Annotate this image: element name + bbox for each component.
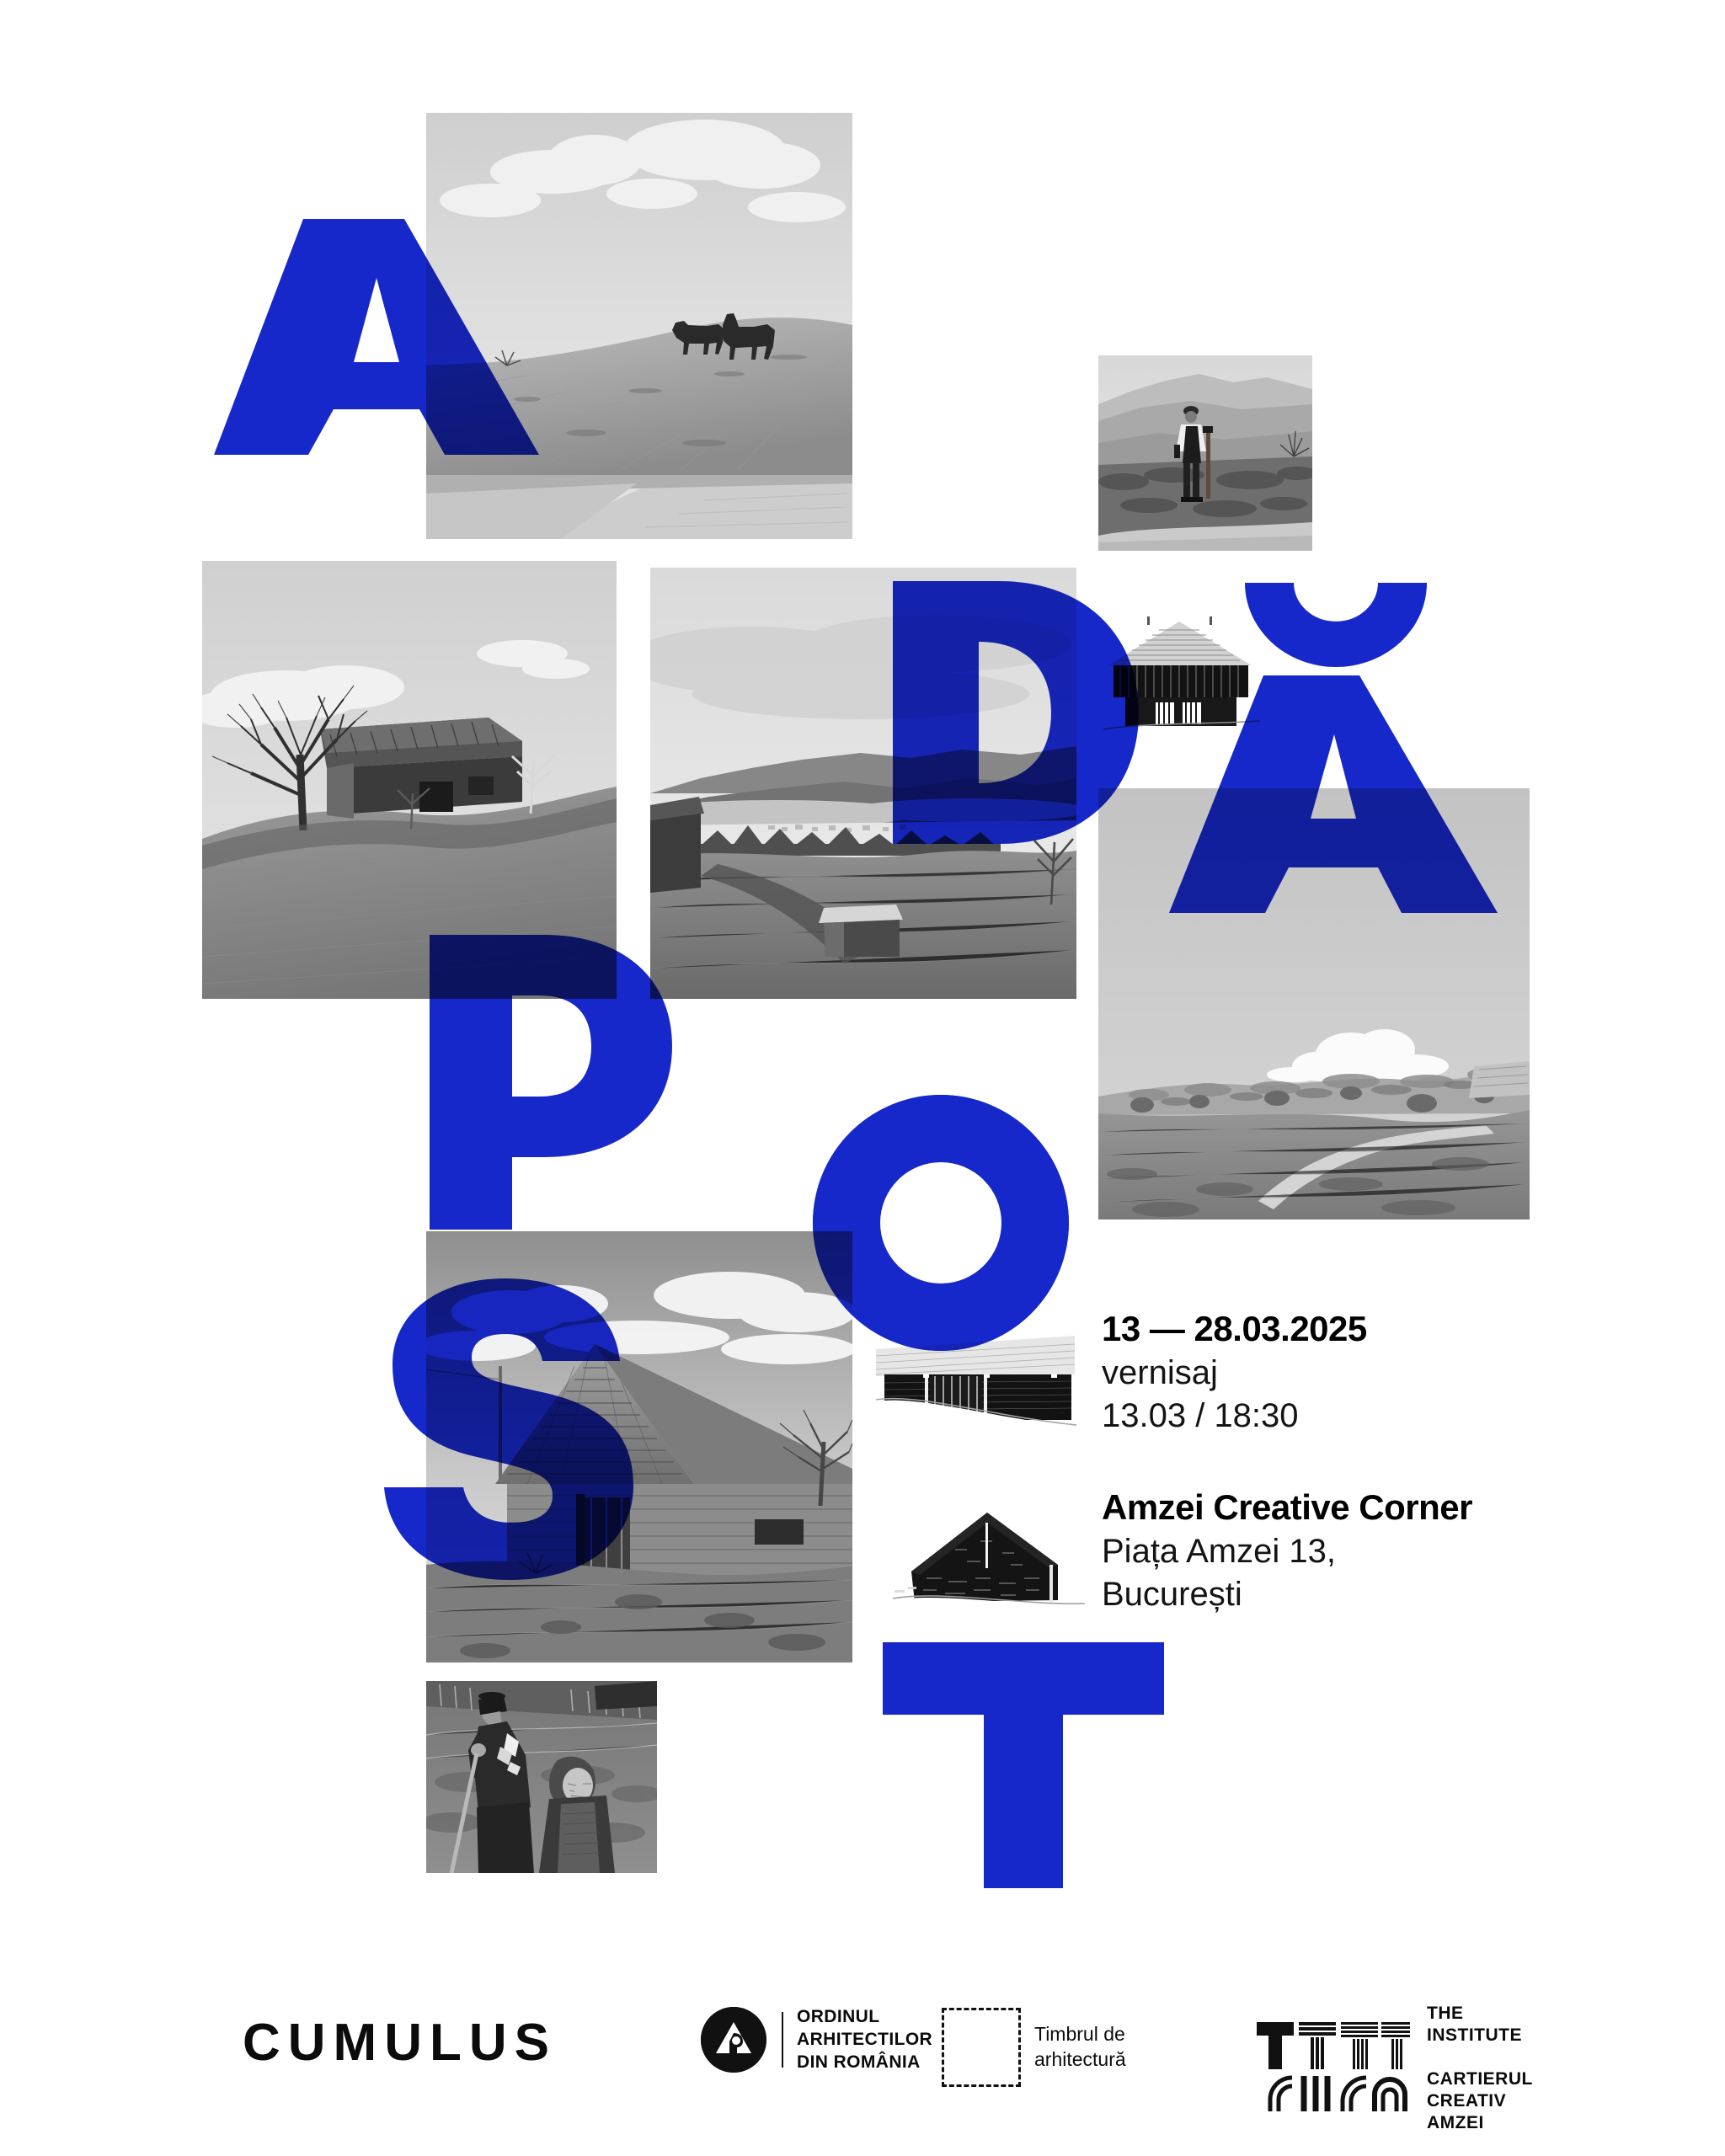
- institute-line-1: THE: [1427, 2003, 1533, 2025]
- shingle-house-image: [426, 1231, 852, 1662]
- oar-line-1: ORDINUL: [797, 2006, 932, 2029]
- timbru-line-1: Timbrul de: [1034, 2022, 1126, 2047]
- event-opening-label: vernisaj: [1102, 1352, 1540, 1395]
- venue-address-line-2: București: [1102, 1573, 1573, 1616]
- venue-info-block: Amzei Creative Corner Piața Amzei 13, Bu…: [1102, 1486, 1573, 1617]
- logo-ordinul-arhitectilor: ORDINUL ARHITECTILOR DIN ROMÂNIA: [701, 2006, 932, 2074]
- oar-divider: [782, 2012, 783, 2068]
- logo-timbrul-de-arhitectura: Timbrul de arhitectură: [942, 2008, 1126, 2087]
- photo-misty-valley: [650, 568, 1076, 999]
- oar-wordmark: ORDINUL ARHITECTILOR DIN ROMÂNIA: [797, 2006, 932, 2074]
- horses-hill-image: [426, 113, 852, 539]
- cumulus-wordmark: CUMULUS: [243, 2013, 557, 2073]
- photo-shingle-house: [426, 1231, 852, 1662]
- timbru-line-2: arhitectură: [1034, 2047, 1126, 2073]
- photo-man-with-tool: [1098, 355, 1312, 551]
- photo-stilt-granary: [1095, 611, 1306, 763]
- institute-line-3: CARTIERUL: [1427, 2068, 1533, 2090]
- field-clouds-image: [1098, 788, 1530, 1219]
- oar-circle-a-icon: [701, 2007, 766, 2073]
- event-info-block: 13 — 28.03.2025 vernisaj 13.03 / 18:30: [1102, 1307, 1540, 1438]
- logo-cumulus: CUMULUS: [243, 2013, 557, 2073]
- institute-line-4: CREATIV: [1427, 2090, 1533, 2112]
- logo-the-institute: THE INSTITUTE CARTIERUL CREATIV AMZEI: [1255, 2003, 1533, 2134]
- footer-logo-bar: CUMULUS ORDINUL ARHITECTILOR DIN ROMÂNIA: [0, 1988, 1725, 2156]
- oar-line-3: DIN ROMÂNIA: [797, 2052, 932, 2074]
- man-with-tool-image: [1098, 355, 1312, 551]
- oar-line-2: ARHITECTILOR: [797, 2029, 932, 2052]
- dashed-square-icon: [942, 2008, 1021, 2087]
- institute-line-2: INSTITUTE: [1427, 2025, 1533, 2047]
- photo-barn-with-trees: [202, 561, 617, 999]
- event-dates: 13 — 28.03.2025: [1102, 1307, 1540, 1350]
- barn-with-trees-image: [202, 561, 617, 999]
- photo-stone-barn-cutout: [893, 1501, 1087, 1612]
- institute-top-lines: THE INSTITUTE: [1427, 2003, 1533, 2047]
- elderly-couple-image: [426, 1681, 657, 1873]
- shed-cutout-image: [876, 1336, 1078, 1455]
- institute-wordmark: THE INSTITUTE CARTIERUL CREATIV AMZEI: [1427, 2003, 1533, 2134]
- institute-line-5: AMZEI: [1427, 2112, 1533, 2134]
- venue-name: Amzei Creative Corner: [1102, 1486, 1573, 1529]
- misty-valley-image: [650, 568, 1076, 999]
- photo-field-clouds: [1098, 788, 1530, 1219]
- venue-address-line-1: Piața Amzei 13,: [1102, 1530, 1573, 1573]
- photo-shed-cutout: [876, 1336, 1078, 1455]
- letter-T: [883, 1642, 1164, 1888]
- institute-bottom-lines: CARTIERUL CREATIV AMZEI: [1427, 2068, 1533, 2134]
- ttt-ccca-monogram-icon: [1255, 2017, 1412, 2121]
- timbru-wordmark: Timbrul de arhitectură: [1034, 2022, 1126, 2073]
- stilt-granary-image: [1095, 611, 1306, 763]
- event-opening-datetime: 13.03 / 18:30: [1102, 1395, 1540, 1438]
- photo-elderly-couple: [426, 1681, 657, 1873]
- stone-barn-cutout-image: [893, 1501, 1087, 1612]
- poster-canvas: 13 — 28.03.2025 vernisaj 13.03 / 18:30 A…: [0, 0, 1725, 2156]
- photo-horses-hill: [426, 113, 852, 539]
